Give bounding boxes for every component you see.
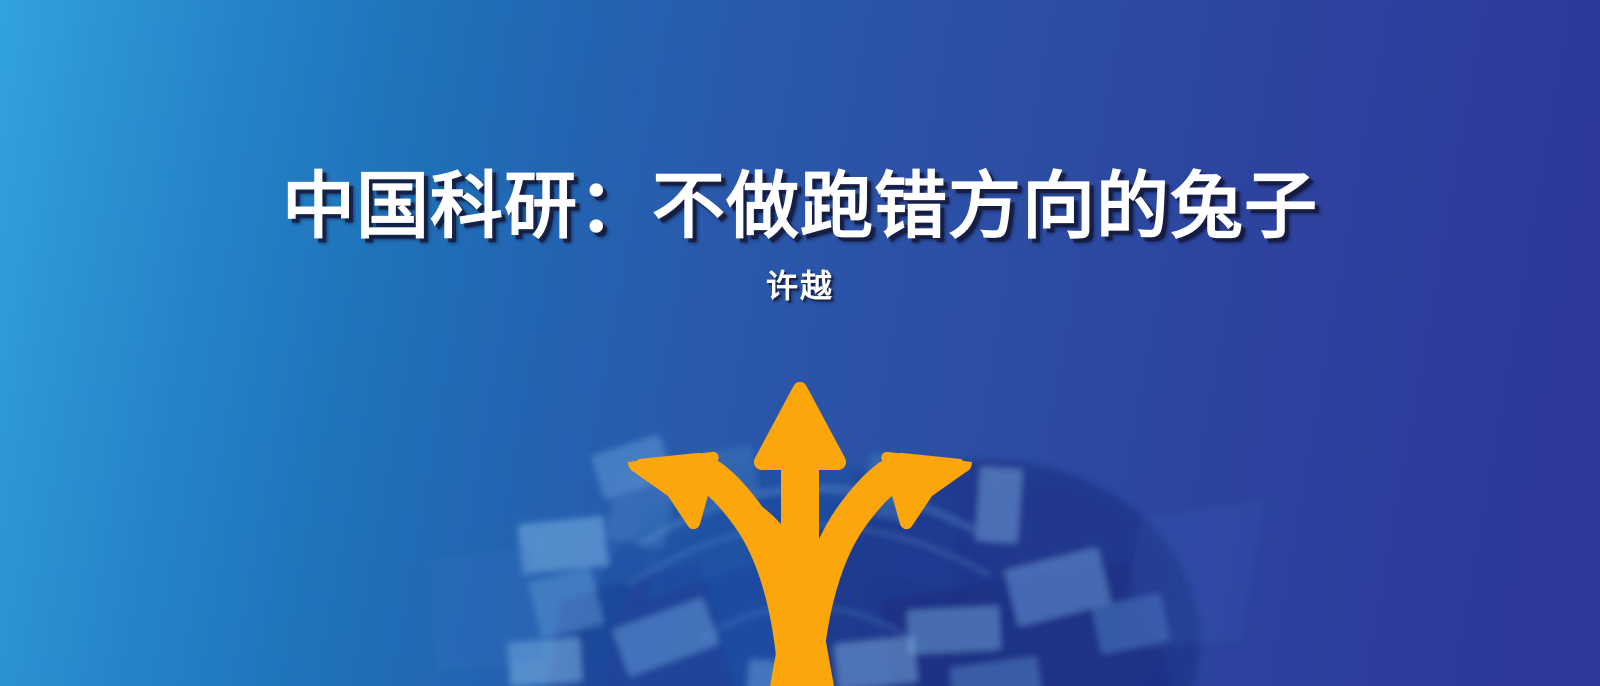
page-title: 中国科研：不做跑错方向的兔子: [0, 168, 1600, 245]
arrow-left-stem: [700, 470, 796, 686]
arrow-trunk-final: [778, 606, 822, 686]
gear-backdrop-graphic: [0, 0, 1600, 686]
arrow-right-stem: [804, 470, 900, 686]
arrow-head-right: [881, 452, 972, 529]
arrow-heads: [628, 382, 972, 529]
page-subtitle-author: 许越: [0, 261, 1600, 307]
arrow-left-path: [637, 459, 812, 686]
arrow-head-center: [754, 382, 846, 470]
arrow-right-final: [796, 453, 964, 676]
arrow-group-final: [636, 383, 964, 676]
arrow-trunk: [770, 568, 834, 686]
title-text-block: 中国科研：不做跑错方向的兔子 许越: [0, 168, 1600, 307]
three-way-arrow-graphic: [0, 0, 1600, 686]
arrow-left-final: [636, 453, 804, 676]
arrow-center: [756, 383, 844, 666]
title-slide: 中国科研：不做跑错方向的兔子 许越: [0, 0, 1600, 686]
arrow-head-left: [628, 452, 719, 529]
